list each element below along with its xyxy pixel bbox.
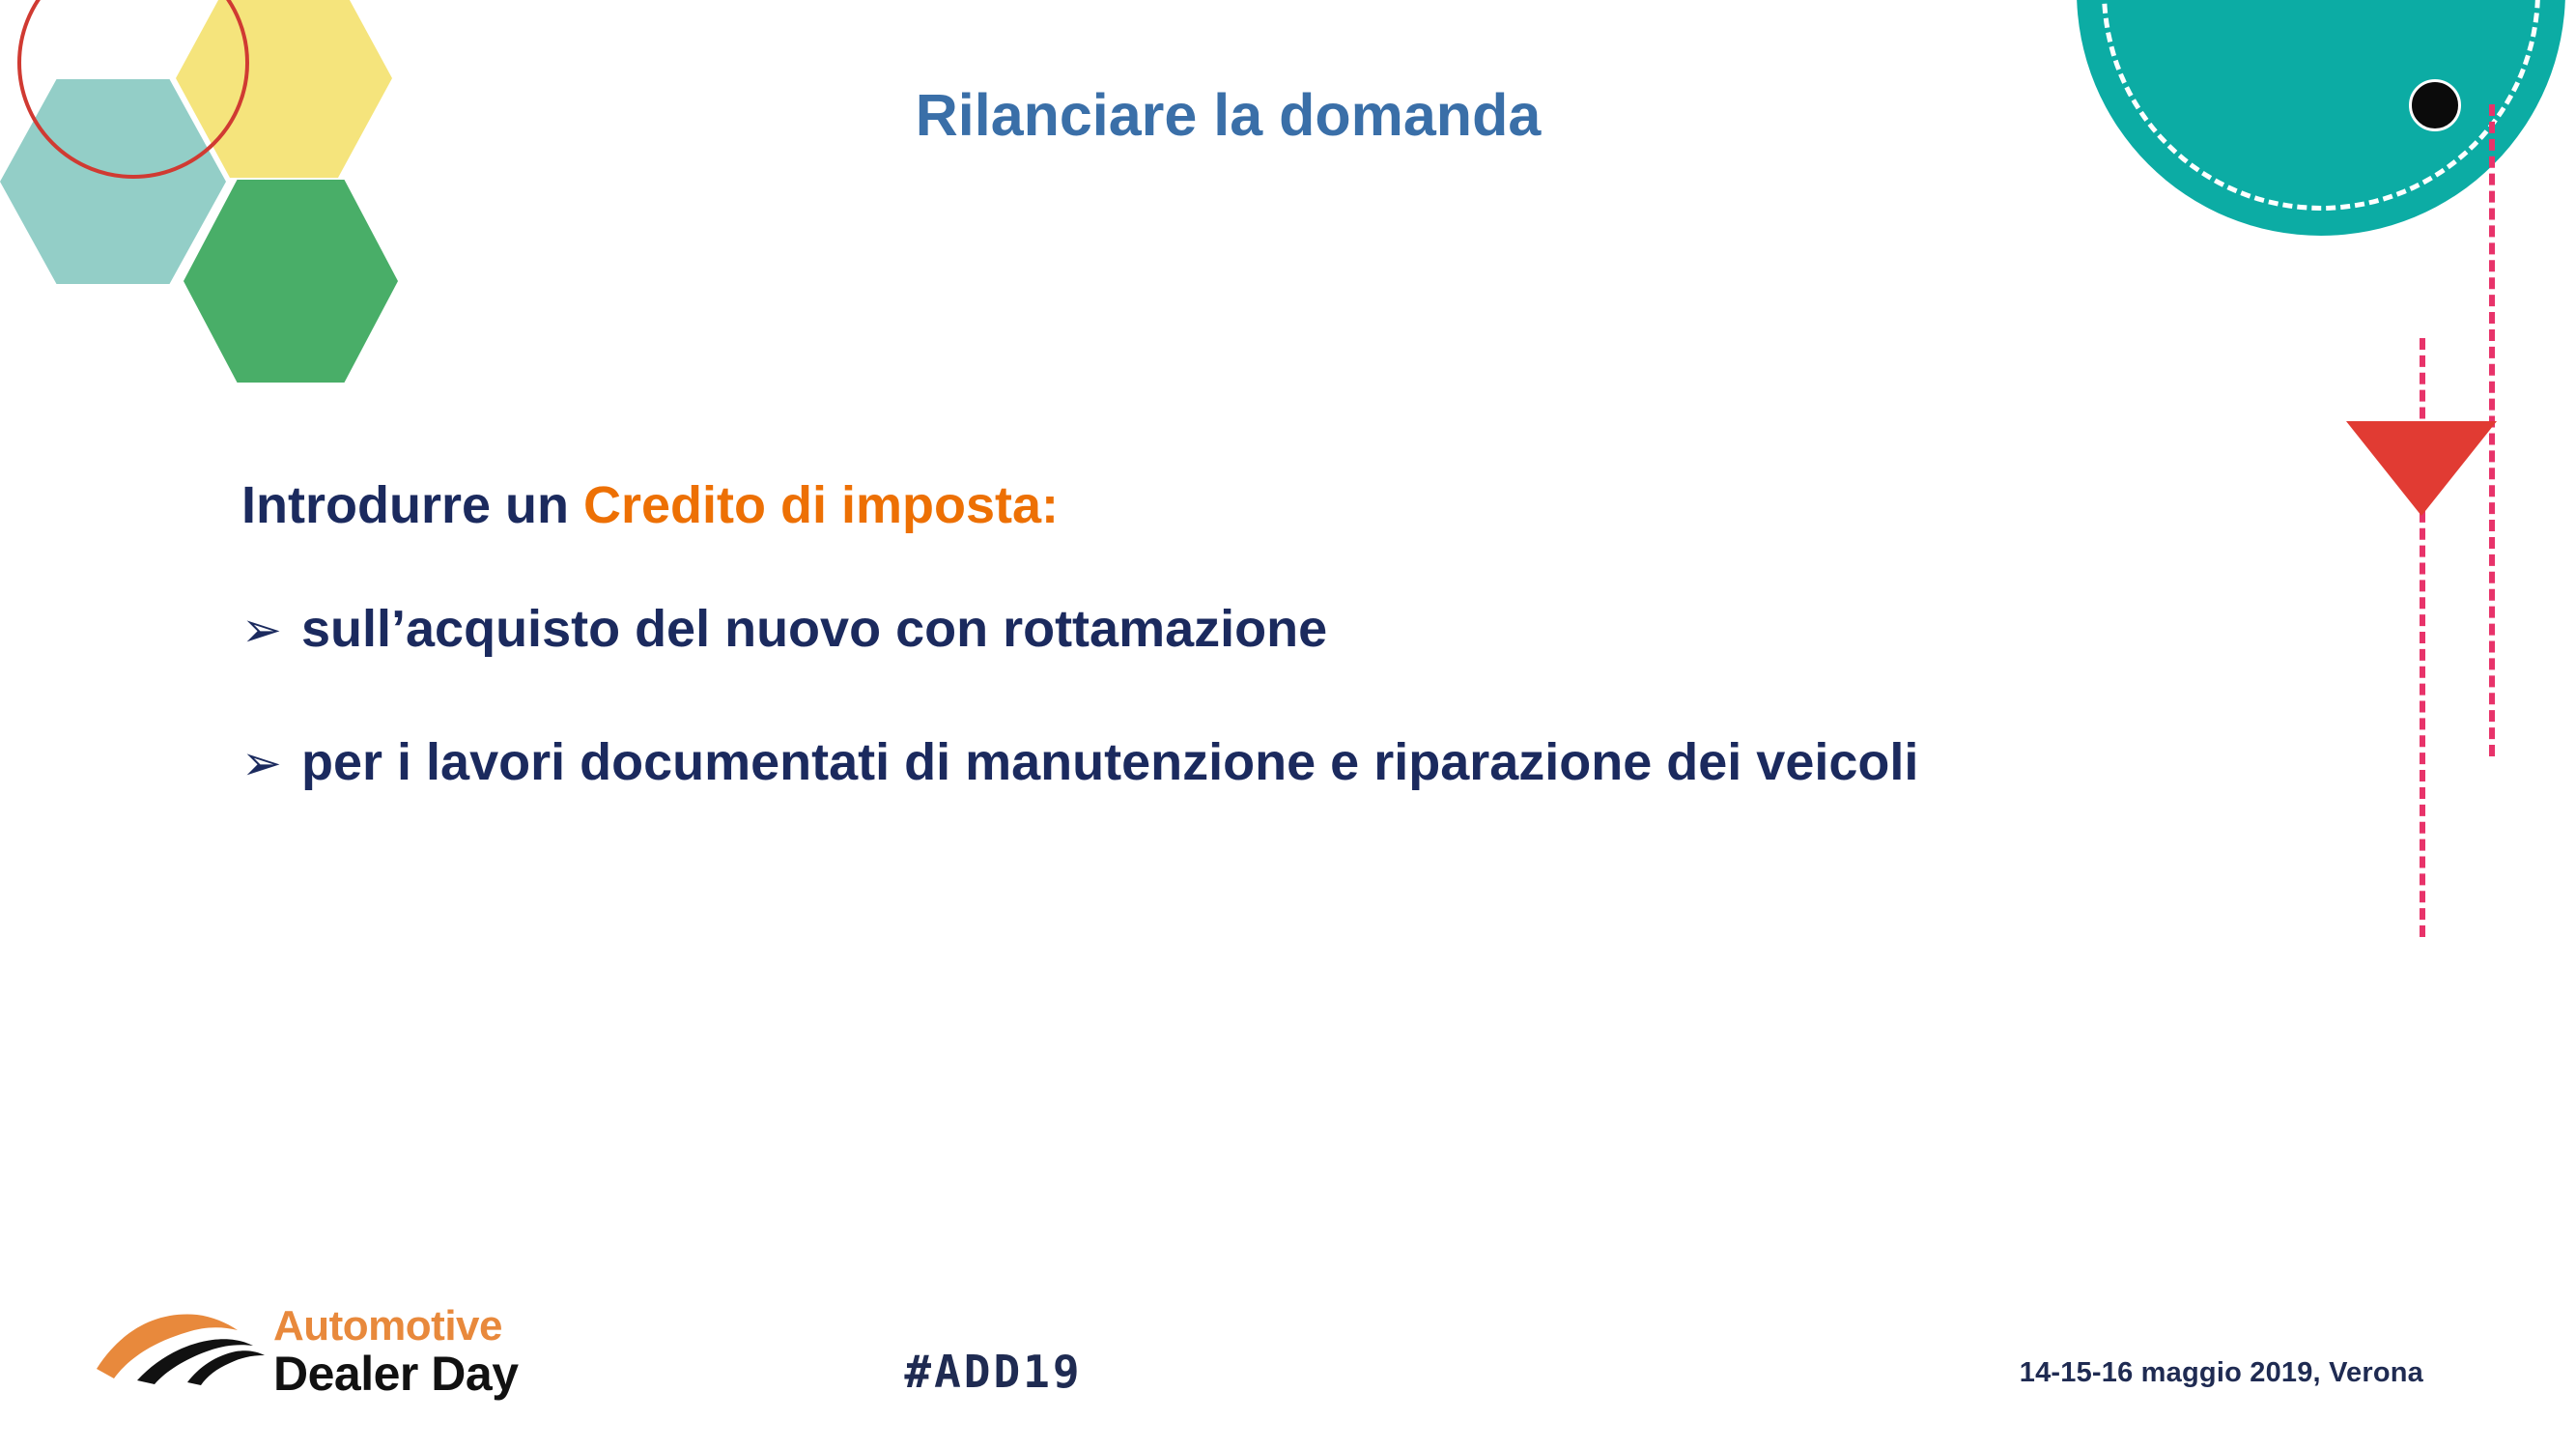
event-date-location: 14-15-16 maggio 2019, Verona (2020, 1357, 2423, 1389)
presentation-slide: Rilanciare la domanda Introdurre un Cred… (0, 0, 2576, 1449)
list-item: ➢ per i lavori documentati di manutenzio… (241, 732, 2366, 792)
lead-statement-prefix: Introdurre un (241, 476, 583, 534)
event-hashtag-text: #ADD19 (904, 1346, 1082, 1398)
lead-statement: Introdurre un Credito di imposta: (241, 475, 2366, 535)
list-item-label: sull’acquisto del nuovo con rottamazione (301, 599, 1327, 659)
hexagon-green-icon (184, 180, 398, 383)
page-title-text: Rilanciare la domanda (916, 81, 1542, 149)
logo-line-automotive: Automotive (273, 1305, 519, 1348)
lead-statement-accent: Credito di imposta: (583, 476, 1059, 534)
list-item: ➢ sull’acquisto del nuovo con rottamazio… (241, 599, 2366, 659)
arrow-bullet-icon: ➢ (241, 739, 301, 787)
page-title: Rilanciare la domanda (0, 81, 2576, 149)
list-item-label: per i lavori documentati di manutenzione… (301, 732, 1918, 792)
arrow-bullet-icon: ➢ (241, 606, 301, 654)
red-down-triangle-icon (2346, 421, 2497, 516)
slide-body: Introdurre un Credito di imposta: ➢ sull… (241, 475, 2366, 866)
hexagon-cluster-decoration (0, 0, 415, 406)
